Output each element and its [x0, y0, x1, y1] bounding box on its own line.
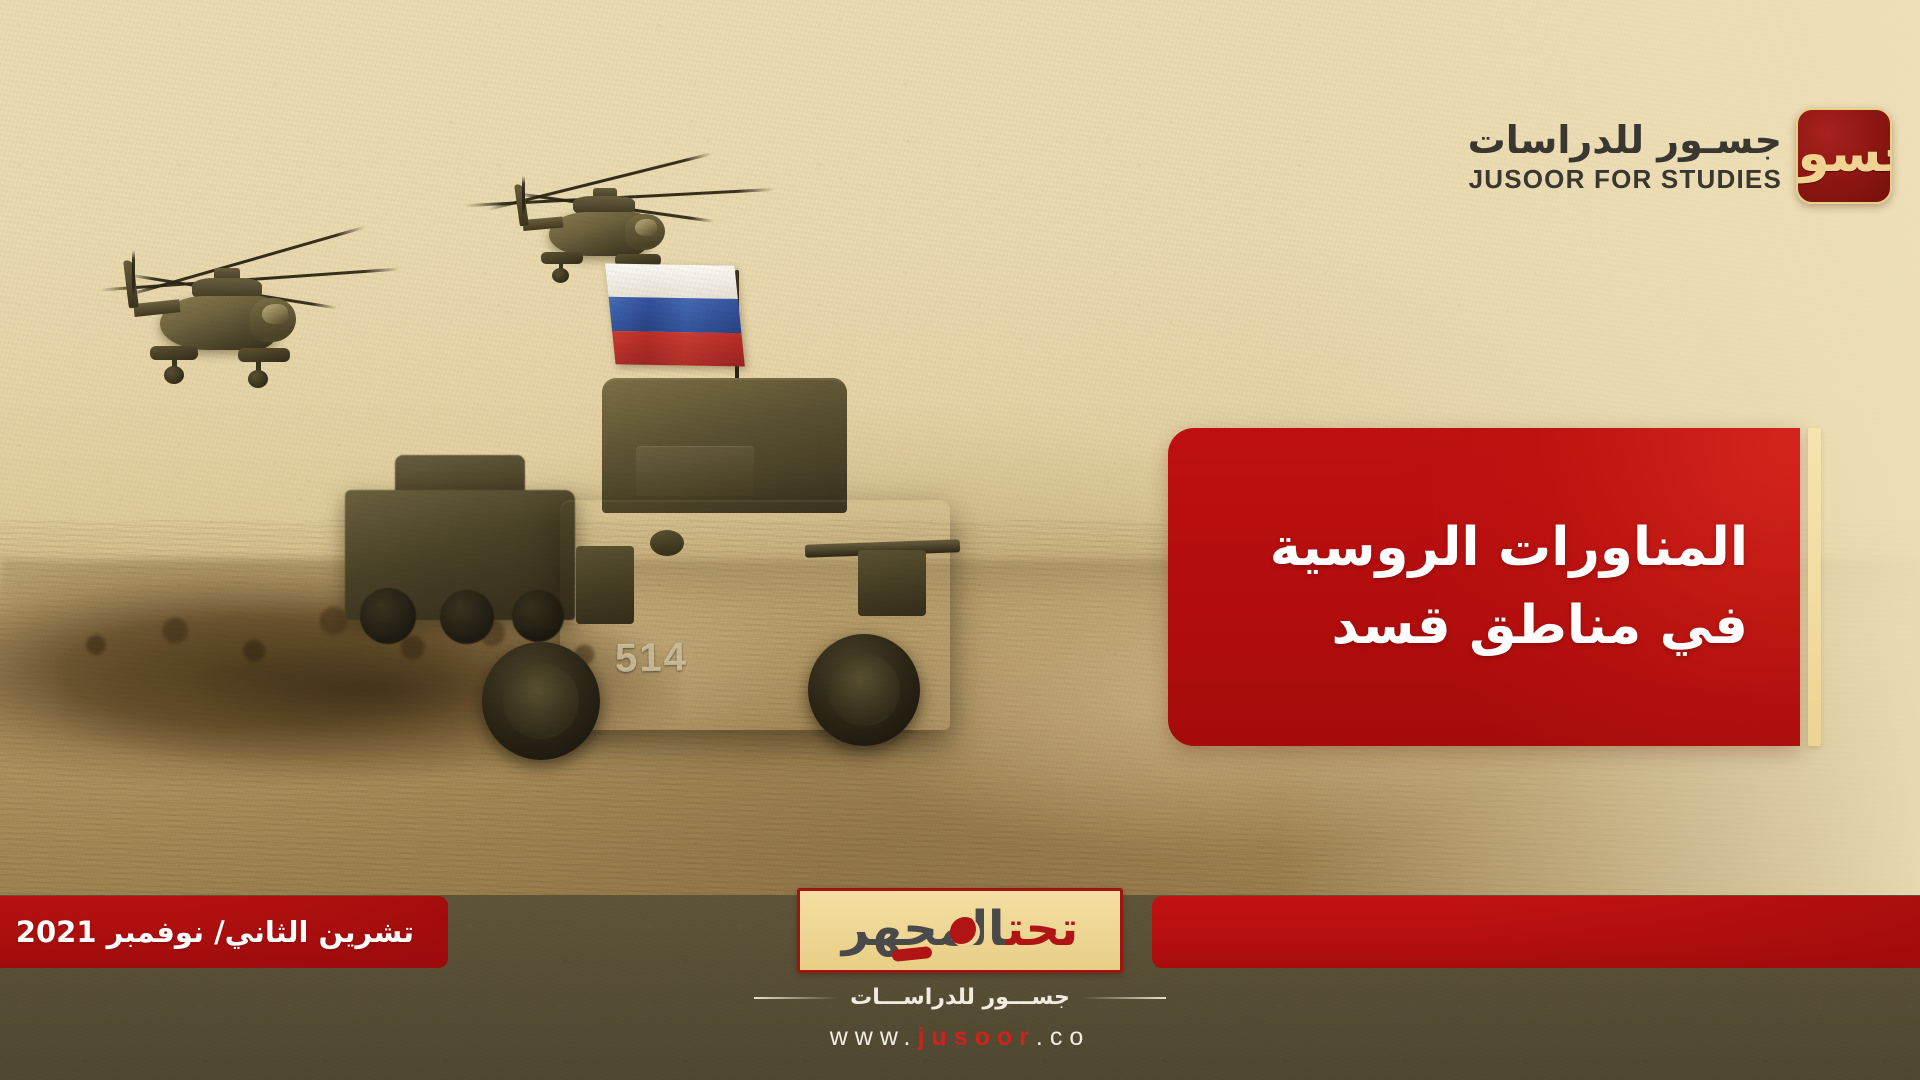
series-logo-word-a: تحت [1006, 901, 1078, 957]
banner-canvas: 514 جسور جسـور للدراسات JUSOOR FOR STUDI… [0, 0, 1920, 1080]
rule-right [754, 997, 838, 999]
brand-text: جسـور للدراسات JUSOOR FOR STUDIES [1468, 121, 1782, 192]
publication-date-bar: تشرين الثاني/ نوفمبر 2021 [0, 896, 448, 968]
series-logo-box[interactable]: تحتالمجهر [797, 888, 1123, 973]
series-logo-block[interactable]: تحتالمجهر جســـور للدراســـات www.jusoor… [754, 888, 1166, 1052]
footer-accent-bar [1152, 896, 1920, 968]
brand-logo[interactable]: جسور جسـور للدراسات JUSOOR FOR STUDIES [1468, 108, 1892, 204]
website-tld: .co [1036, 1023, 1090, 1051]
publication-date: تشرين الثاني/ نوفمبر 2021 [16, 915, 414, 949]
title-panel: المناورات الروسية في مناطق قسد [1168, 428, 1800, 746]
website-prefix: www. [830, 1023, 918, 1051]
rule-left [1082, 997, 1166, 999]
microscope-lens-dot-icon [950, 917, 980, 947]
jusoor-calligraphy-glyph: جسور [1798, 108, 1890, 200]
publisher-line: جســـور للدراســـات [754, 985, 1166, 1010]
jusoor-logo-mark[interactable]: جسور [1796, 108, 1892, 204]
title-accent-strip [1808, 428, 1821, 746]
brand-name-arabic: جسـور للدراسات [1468, 121, 1782, 159]
brand-name-english: JUSOOR FOR STUDIES [1468, 166, 1782, 192]
website-url[interactable]: www.jusoor.co [830, 1023, 1091, 1052]
page-title: المناورات الروسية في مناطق قسد [1270, 509, 1748, 666]
publisher-name: جســـور للدراســـات [850, 985, 1070, 1010]
website-name: jusoor [917, 1023, 1035, 1051]
